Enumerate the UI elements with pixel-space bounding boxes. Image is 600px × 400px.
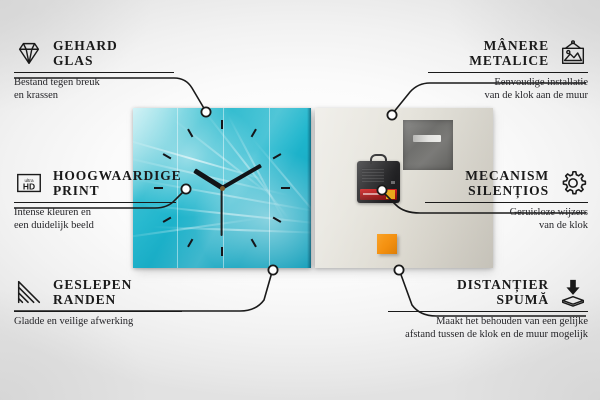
clock-tick [187,129,193,138]
callout-header: GESLEPEN RANDEN [14,277,194,307]
clock-hand-minute [221,164,262,190]
clock-tick [187,239,193,248]
clock-tick [251,239,257,248]
callout-hd-print: ultra HD HOOGWAARDIGE PRINT Intense kleu… [14,168,194,232]
callout-rule [14,72,174,73]
clock-tick [221,247,223,256]
callout-rule [425,202,588,203]
callout-ground-edges: GESLEPEN RANDEN Gladde en veilige afwerk… [14,277,194,329]
clock-tick [281,187,290,189]
callout-title: MECANISM SILENȚIOS [465,168,549,198]
callout-rule [14,311,182,312]
infographic-canvas: GEHARD GLAS Bestand tegen breuk en krass… [0,0,600,400]
svg-text:HD: HD [23,182,35,192]
clock-hand-hour [193,168,224,190]
framed-picture-hanging-icon [558,38,588,68]
callout-header: DISTANȚIER SPUMĂ [373,277,588,307]
ultra-hd-icon: ultra HD [14,168,44,198]
callout-header: MÂNERE METALICE [410,38,588,68]
callout-description: Bestand tegen breuk en krassen [14,77,189,102]
callout-title: MÂNERE METALICE [469,38,549,68]
callout-metal-handles: MÂNERE METALICE Eenvoudige installatie v… [410,38,588,102]
clock-tick [163,153,172,159]
callout-title: HOOGWAARDIGE PRINT [53,168,182,198]
clock-tick [273,153,282,159]
clock-hand-second [221,188,223,236]
callout-rule [14,202,176,203]
callout-description: Eenvoudige installatie van de klok aan d… [410,77,588,102]
clock-hand-cap [220,186,225,191]
callout-foam-spacer: DISTANȚIER SPUMĂ Maakt het behouden van … [373,277,588,341]
callout-header: MECANISM SILENȚIOS [410,168,588,198]
clock-tick [273,217,282,223]
beveled-edge-icon [14,277,44,307]
callout-header: ultra HD HOOGWAARDIGE PRINT [14,168,194,198]
callout-rule [428,72,588,73]
callout-description: Geruisloze wijzers van de klok [410,207,588,232]
diamond-icon [14,38,44,68]
callout-title: GEHARD GLAS [53,38,118,68]
arrow-down-onto-pad-icon [558,277,588,307]
gear-icon [558,168,588,198]
callout-tempered-glass: GEHARD GLAS Bestand tegen breuk en krass… [14,38,189,102]
callout-title: GESLEPEN RANDEN [53,277,132,307]
callout-header: GEHARD GLAS [14,38,189,68]
callout-description: Gladde en veilige afwerking [14,316,194,329]
callout-silent-mechanism: MECANISM SILENȚIOS Geruisloze wijzers va… [410,168,588,232]
clock-tick [251,129,257,138]
callout-description: Intense kleuren en een duidelijk beeld [14,207,194,232]
callout-rule [388,311,588,312]
callout-description: Maakt het behouden van een gelijke afsta… [373,316,588,341]
clock-tick [221,120,223,129]
callout-title: DISTANȚIER SPUMĂ [457,277,549,307]
